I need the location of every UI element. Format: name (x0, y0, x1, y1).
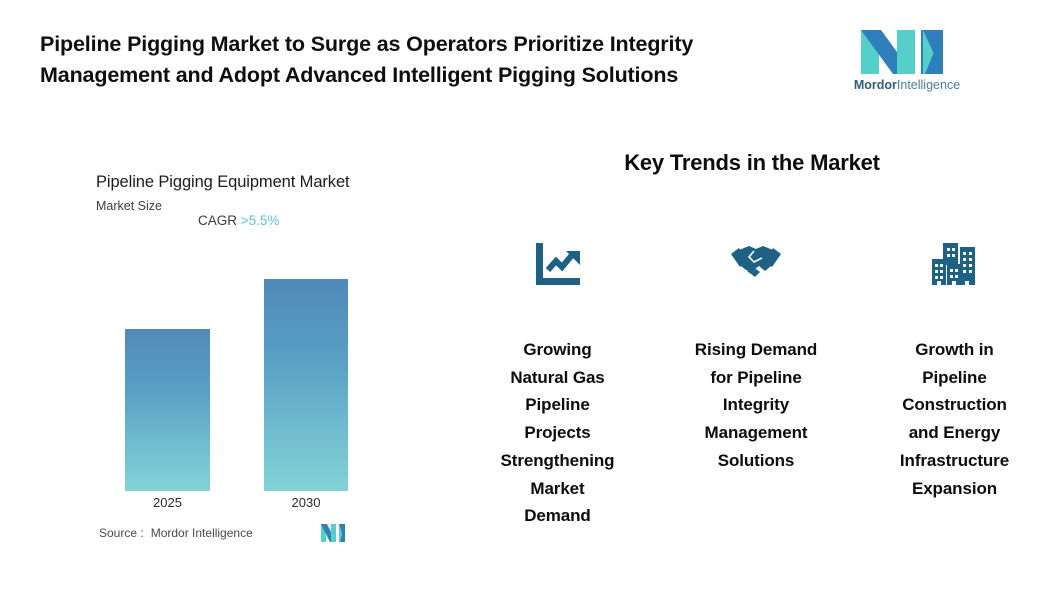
mordor-intelligence-mark-icon (320, 523, 350, 543)
source-value: Mordor Intelligence (151, 526, 253, 540)
mordor-intelligence-logo-icon (851, 28, 963, 76)
trend-card-growing-natural-gas: Growing Natural Gas Pipeline Projects St… (480, 240, 635, 530)
buildings-icon (929, 240, 981, 288)
trends-row: Growing Natural Gas Pipeline Projects St… (480, 240, 1032, 530)
axis-label-2025: 2025 (125, 495, 210, 510)
trends-heading: Key Trends in the Market (460, 150, 1044, 176)
trend-label: Growing Natural Gas Pipeline Projects St… (496, 336, 620, 530)
trend-card-pipeline-construction: Growth in Pipeline Construction and Ener… (877, 240, 1032, 502)
bar-2030 (264, 279, 348, 491)
infographic-canvas: Pipeline Pigging Market to Surge as Oper… (0, 0, 1044, 604)
page-title: Pipeline Pigging Market to Surge as Oper… (40, 29, 810, 90)
source-label: Source : (99, 526, 144, 540)
market-size-chart-panel: Pipeline Pigging Equipment Market Market… (0, 140, 440, 560)
bar-2025 (125, 329, 210, 491)
handshake-icon (730, 240, 782, 288)
growth-chart-icon (532, 240, 584, 288)
trend-card-pipeline-integrity: Rising Demand for Pipeline Integrity Man… (679, 240, 834, 475)
key-trends-panel: Key Trends in the Market Growing Natural… (460, 140, 1044, 570)
trend-label: Growth in Pipeline Construction and Ener… (893, 336, 1017, 502)
bar-chart-plot-area: 2025 2030 (0, 140, 440, 560)
brand-logo: MordorIntelligence (851, 28, 963, 96)
trend-label: Rising Demand for Pipeline Integrity Man… (694, 336, 818, 475)
brand-wordmark: MordorIntelligence (851, 78, 963, 92)
chart-source: Source :Mordor Intelligence (99, 526, 253, 540)
brand-name-bold: Mordor (854, 78, 897, 92)
axis-label-2030: 2030 (264, 495, 348, 510)
brand-name-light: Intelligence (897, 78, 960, 92)
